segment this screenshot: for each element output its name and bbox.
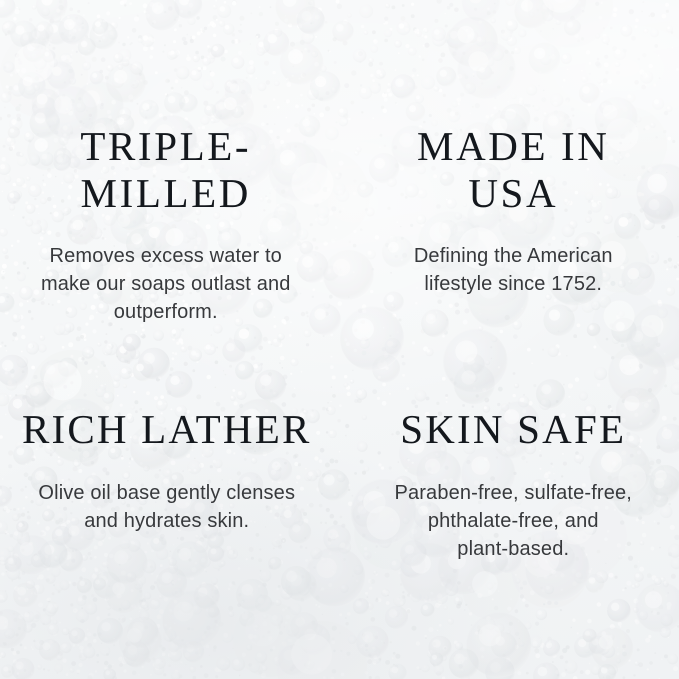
feature-cell-triple-milled: TRIPLE- MILLED Removes excess water to m… [0, 0, 340, 340]
feature-grid: TRIPLE- MILLED Removes excess water to m… [0, 0, 679, 679]
feature-heading-triple-milled: TRIPLE- MILLED [80, 123, 251, 217]
feature-cell-skin-safe: SKIN SAFE Paraben-free, sulfate-free, ph… [340, 340, 679, 679]
feature-body-made-in-usa: Defining the American lifestyle since 17… [414, 242, 613, 298]
feature-cell-made-in-usa: MADE IN USA Defining the American lifest… [340, 0, 679, 340]
feature-body-rich-lather: Olive oil base gently clenses and hydrat… [38, 479, 295, 535]
feature-body-triple-milled: Removes excess water to make our soaps o… [41, 242, 291, 326]
feature-body-skin-safe: Paraben-free, sulfate-free, phthalate-fr… [394, 479, 632, 563]
feature-heading-rich-lather: RICH LATHER [22, 406, 312, 453]
feature-heading-made-in-usa: MADE IN USA [417, 123, 609, 217]
feature-heading-skin-safe: SKIN SAFE [400, 406, 626, 453]
feature-grid-graphic: TRIPLE- MILLED Removes excess water to m… [0, 0, 679, 679]
feature-cell-rich-lather: RICH LATHER Olive oil base gently clense… [0, 340, 340, 679]
